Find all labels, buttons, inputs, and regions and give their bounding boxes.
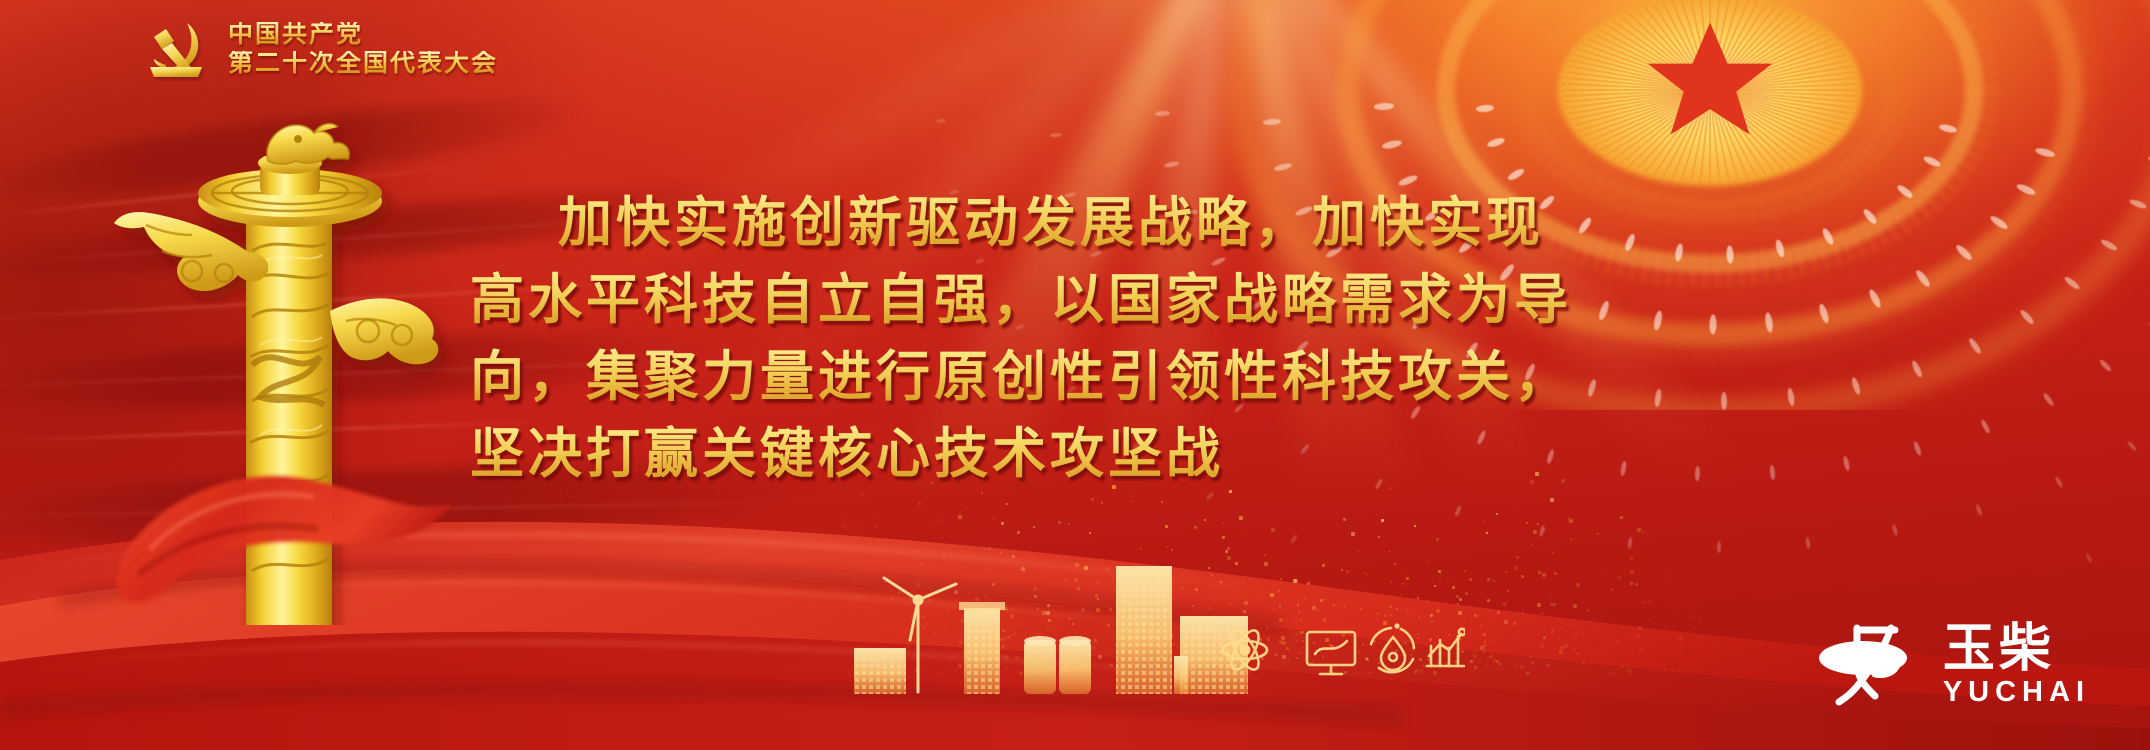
five-pointed-star-icon: [1648, 23, 1772, 135]
yuchai-english-name: YUCHAI: [1943, 676, 2090, 708]
slogan-line-1: 加快实施创新驱动发展战略，加快实现: [470, 185, 1770, 262]
yuchai-brand-logo: 玉柴 YUCHAI: [1817, 622, 2090, 708]
congress-title-line-1: 中国共产党: [228, 22, 498, 47]
cpc-congress-logo: 中国共产党 第二十次全国代表大会: [140, 8, 640, 90]
cloud-wing-left: [114, 212, 268, 291]
huabiao-ornamental-column: [100, 105, 480, 625]
slogan-line-2: 高水平科技自立自强，以国家战略需求为导: [470, 262, 1770, 339]
congress-title-line-2: 第二十次全国代表大会: [228, 51, 498, 76]
monitor-display-icon: [1307, 632, 1355, 674]
atom-icon: [1223, 626, 1267, 673]
hou-beast-figure: [267, 124, 349, 164]
tech-icon-row: [1215, 610, 1465, 688]
yuchai-ellipse-mark-icon: [1817, 622, 1927, 708]
slogan-line-3: 向，集聚力量进行原创性引领性科技攻关，: [470, 339, 1770, 416]
slogan-line-4: 坚决打赢关键核心技术攻坚战: [470, 416, 1770, 493]
cloud-wing-right: [330, 298, 438, 364]
tech-circle-droplet-icon: [1371, 623, 1414, 672]
yuchai-wordmark: 玉柴 YUCHAI: [1943, 622, 2090, 708]
propaganda-banner: 中国共产党 第二十次全国代表大会 加快实施创新驱动发展战略，加快实现 高水平科技…: [0, 0, 2150, 750]
hammer-and-sickle-icon: [140, 17, 212, 81]
lattice-tower: [959, 602, 1005, 694]
twin-silo-building: [1024, 636, 1091, 694]
growth-bar-chart-icon: [1427, 629, 1465, 666]
congress-title-block: 中国共产党 第二十次全国代表大会: [228, 22, 498, 76]
yuchai-chinese-name: 玉柴: [1943, 622, 2090, 676]
tall-tower-building: [1116, 566, 1172, 694]
slogan-text-block: 加快实施创新驱动发展战略，加快实现 高水平科技自立自强，以国家战略需求为导 向，…: [470, 185, 1770, 493]
